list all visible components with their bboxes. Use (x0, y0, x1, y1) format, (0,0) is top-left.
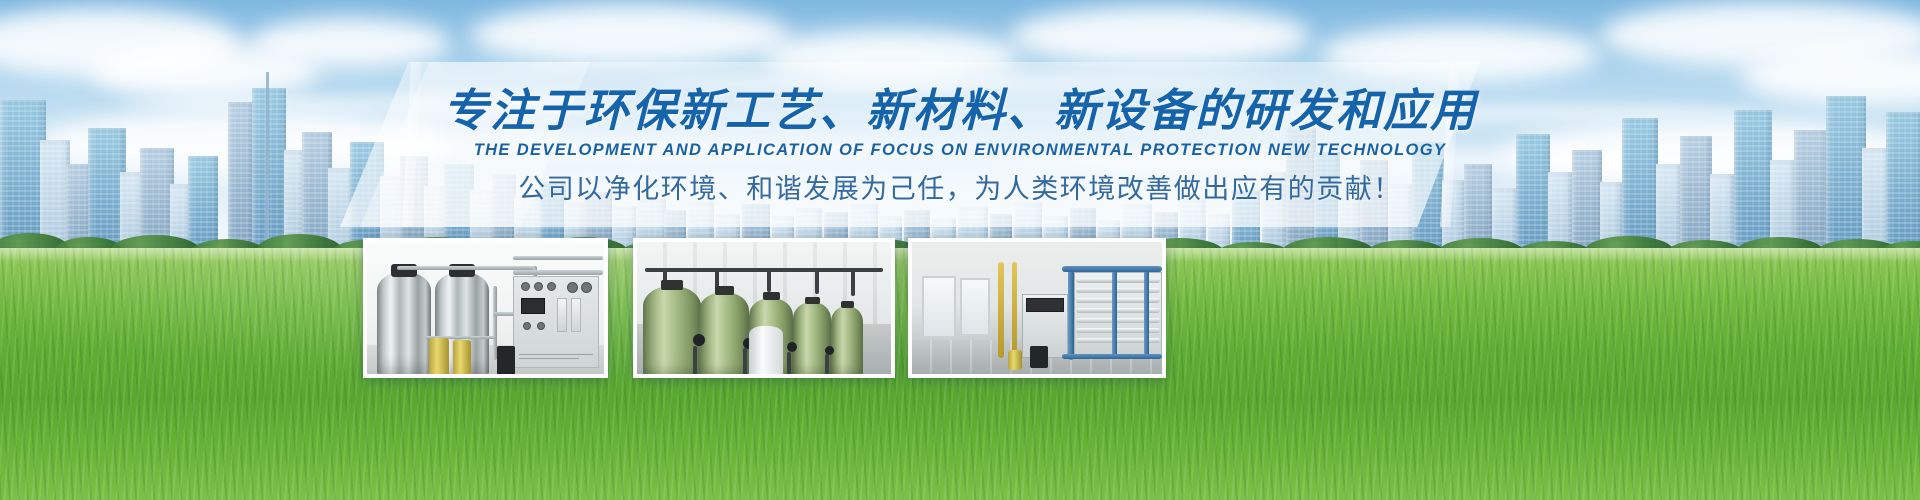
photo-ro-membrane-plant[interactable] (908, 238, 1166, 378)
company-hero-banner: 专注于环保新工艺、新材料、新设备的研发和应用 THE DEVELOPMENT A… (0, 0, 1920, 500)
photo-stainless-steel-tanks[interactable] (363, 238, 608, 378)
photo-green-frp-tanks[interactable] (633, 238, 895, 378)
product-photo-strip (0, 0, 1920, 500)
